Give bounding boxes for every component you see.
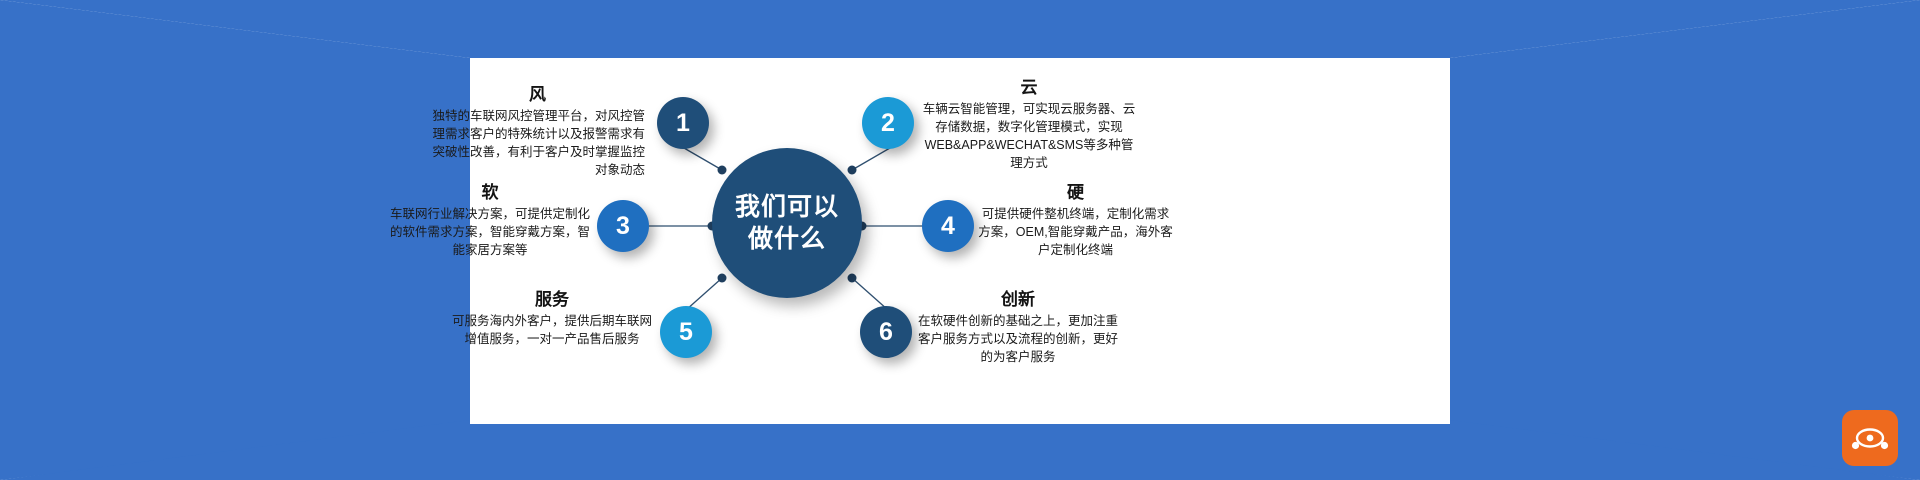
node-title-2: 云 [920,78,1138,98]
node-body-5: 可服务海内外客户，提供后期车联网增值服务，一对一产品售后服务 [452,313,652,349]
hub-line-1: 我们可以 [735,191,839,223]
node-marker-1[interactable]: 1 [657,97,709,149]
node-block-6: 创新 在软硬件创新的基础之上，更加注重客户服务方式以及流程的创新，更好的为客户服… [918,290,1118,367]
node-block-5: 服务 可服务海内外客户，提供后期车联网增值服务，一对一产品售后服务 [452,290,652,349]
node-block-2: 云 车辆云智能管理，可实现云服务器、云存储数据，数字化管理模式，实现WEB&AP… [920,78,1138,172]
hub-line-2: 做什么 [748,223,826,255]
node-number-1: 1 [676,109,690,138]
node-body-6: 在软硬件创新的基础之上，更加注重客户服务方式以及流程的创新，更好的为客户服务 [918,313,1118,366]
node-marker-6[interactable]: 6 [860,306,912,358]
node-marker-4[interactable]: 4 [922,200,974,252]
node-number-6: 6 [879,318,893,347]
node-body-2: 车辆云智能管理，可实现云服务器、云存储数据，数字化管理模式，实现WEB&APP&… [920,101,1138,172]
node-title-3: 软 [390,183,590,203]
node-title-1: 风 [430,85,645,105]
node-block-3: 软 车联网行业解决方案，可提供定制化的软件需求方案，智能穿戴方案，智能家居方案等 [390,183,590,260]
node-block-1: 风 独特的车联网风控管理平台，对风控管理需求客户的特殊统计以及报警需求有突破性改… [430,85,645,179]
node-number-3: 3 [616,212,630,241]
node-body-4: 可提供硬件整机终端，定制化需求方案，OEM,智能穿戴产品，海外客户定制化终端 [978,206,1173,259]
center-hub: 我们可以 做什么 [712,148,862,298]
node-block-4: 硬 可提供硬件整机终端，定制化需求方案，OEM,智能穿戴产品，海外客户定制化终端 [978,183,1173,260]
node-body-3: 车联网行业解决方案，可提供定制化的软件需求方案，智能穿戴方案，智能家居方案等 [390,206,590,259]
logo-glyph-icon [1851,425,1889,451]
node-number-5: 5 [679,318,693,347]
slide-canvas: 我们可以 做什么 1 风 独特的车联网风控管理平台，对风控管理需求客户的特殊统计… [0,0,1920,480]
node-title-5: 服务 [452,290,652,310]
node-title-4: 硬 [978,183,1173,203]
node-marker-3[interactable]: 3 [597,200,649,252]
node-body-1: 独特的车联网风控管理平台，对风控管理需求客户的特殊统计以及报警需求有突破性改善，… [430,108,645,179]
node-number-2: 2 [881,109,895,138]
node-title-6: 创新 [918,290,1118,310]
node-number-4: 4 [941,212,955,241]
node-marker-5[interactable]: 5 [660,306,712,358]
company-logo[interactable] [1842,410,1898,466]
node-marker-2[interactable]: 2 [862,97,914,149]
